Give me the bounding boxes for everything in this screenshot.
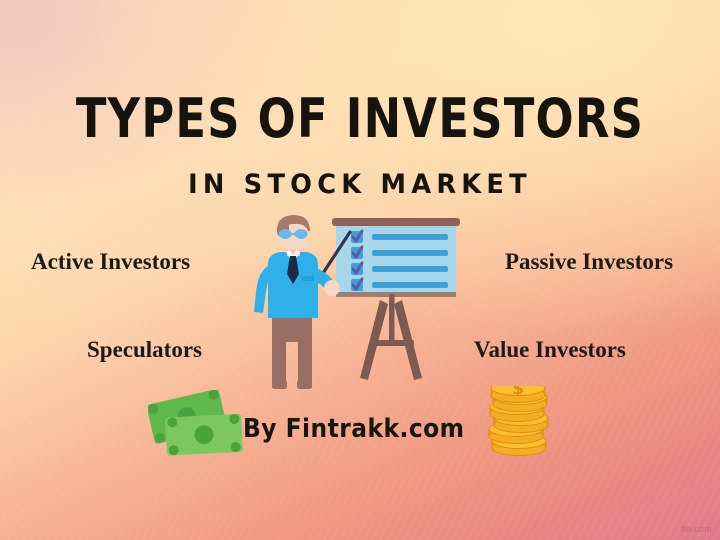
label-active-investors: Active Investors bbox=[31, 249, 190, 275]
flipchart-board-icon bbox=[332, 218, 460, 297]
label-value-investors: Value Investors bbox=[474, 337, 626, 363]
money-notes-icon bbox=[148, 390, 248, 460]
label-speculators: Speculators bbox=[87, 337, 202, 363]
watermark: fin.com bbox=[681, 524, 712, 534]
infographic-poster: TYPES OF INVESTORS IN STOCK MARKET Activ… bbox=[0, 0, 720, 540]
credit-text: By Fintrakk.com bbox=[243, 414, 465, 444]
page-title: TYPES OF INVESTORS bbox=[61, 92, 659, 146]
presenter-figure-icon bbox=[254, 215, 340, 389]
label-passive-investors: Passive Investors bbox=[505, 249, 673, 275]
coin-stack-icon: $ bbox=[487, 386, 567, 466]
dollar-sign-icon: $ bbox=[512, 386, 524, 399]
presenter-with-flipchart-icon bbox=[250, 212, 460, 397]
page-subtitle: IN STOCK MARKET bbox=[18, 170, 702, 200]
